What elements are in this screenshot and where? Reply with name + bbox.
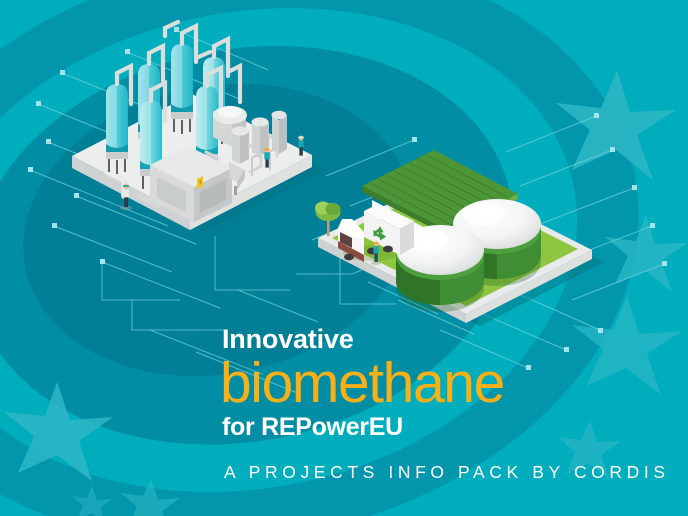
title-line-innovative: Innovative bbox=[222, 326, 662, 353]
title-line-biomethane: biomethane bbox=[220, 354, 662, 412]
title-line-for-repowereu: for REPowerEU bbox=[222, 415, 662, 440]
cover-title-block: Innovative biomethane for REPowerEU A PR… bbox=[222, 326, 662, 482]
gas-tank-b1 bbox=[171, 44, 193, 134]
tall-column bbox=[272, 111, 288, 154]
gas-tank-f1 bbox=[106, 84, 128, 174]
publication-cover: Innovative biomethane for REPowerEU A PR… bbox=[0, 0, 688, 516]
cover-tagline: A PROJECTS INFO PACK BY CORDIS bbox=[224, 464, 662, 482]
